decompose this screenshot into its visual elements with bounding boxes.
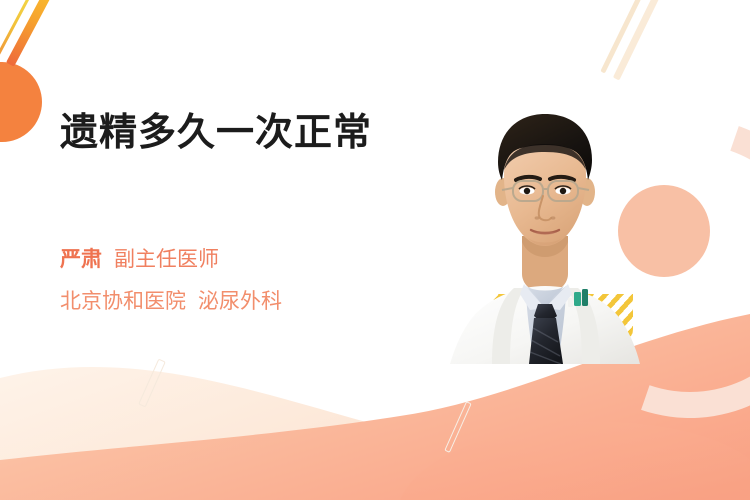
doctor-hospital: 北京协和医院 — [60, 290, 186, 313]
page-title: 遗精多久一次正常 — [60, 110, 372, 158]
faint-stripe-secondary-icon — [444, 401, 471, 453]
doctor-department: 泌尿外科 — [198, 290, 282, 313]
doctor-affiliation-line: 北京协和医院泌尿外科 — [60, 288, 282, 315]
faint-stripe-icon — [138, 359, 166, 408]
doctor-name: 严肃 — [60, 248, 102, 271]
doctor-portrait-photo — [430, 96, 660, 364]
cream-diagonal-stripes-icon — [580, 0, 691, 108]
doctor-video-cover: 遗精多久一次正常 严肃副主任医师 北京协和医院泌尿外科 — [0, 0, 750, 500]
doctor-rank: 副主任医师 — [114, 248, 219, 271]
doctor-credentials-line: 严肃副主任医师 — [60, 246, 219, 273]
